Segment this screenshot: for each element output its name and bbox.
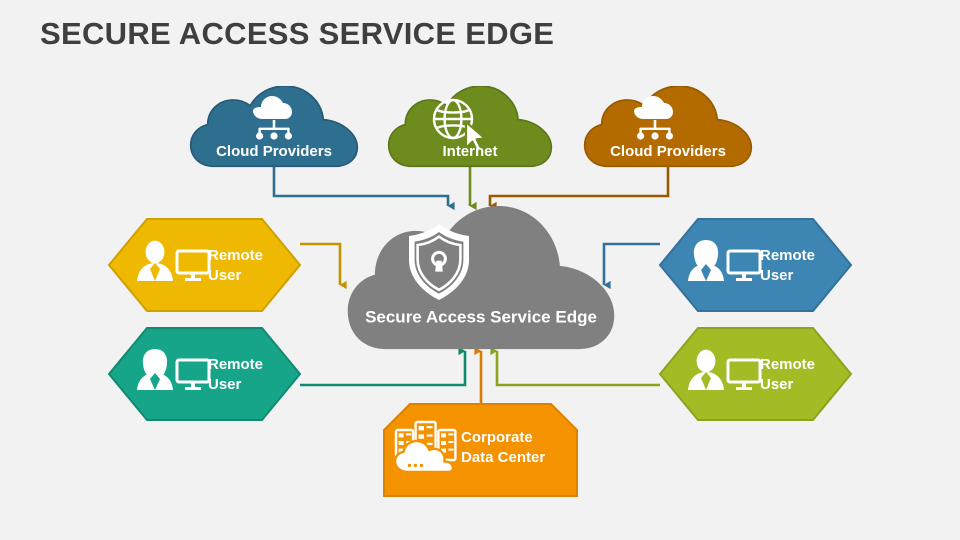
hexagon-shape-bottom-right xyxy=(660,328,851,420)
hexagon-shape-top-right xyxy=(660,219,851,311)
node-label-sase-core: Secure Access Service Edge xyxy=(365,307,597,326)
node-cloud-providers-right[interactable]: Cloud Providers xyxy=(585,86,752,166)
node-label-remote-user-top-left-line1: Remote xyxy=(208,247,263,264)
connector-user-top-right-to-core xyxy=(604,244,660,285)
node-label-remote-user-bottom-left-line2: User xyxy=(208,376,242,393)
node-corporate-data-center[interactable]: Corporate Data Center xyxy=(384,404,577,496)
connector-user-bottom-right-to-core xyxy=(497,351,660,385)
node-label-remote-user-bottom-left-line1: Remote xyxy=(208,356,263,373)
slide-canvas: SECURE ACCESS SERVICE EDGE xyxy=(0,0,960,540)
connector-cloud-left-to-core xyxy=(274,166,448,206)
node-remote-user-bottom-right[interactable]: Remote User xyxy=(660,328,851,420)
node-label-remote-user-bottom-right-line2: User xyxy=(760,376,794,393)
node-label-cloud-providers-right: Cloud Providers xyxy=(610,143,726,160)
cloud-shape-core xyxy=(348,206,615,349)
hexagon-shape-bottom-left xyxy=(109,328,300,420)
node-label-remote-user-bottom-right-line1: Remote xyxy=(760,356,815,373)
sase-diagram: Cloud Providers Internet xyxy=(0,0,960,540)
node-cloud-providers-left[interactable]: Cloud Providers xyxy=(191,86,358,166)
node-remote-user-bottom-left[interactable]: Remote User xyxy=(109,328,300,420)
node-remote-user-top-left[interactable]: Remote User xyxy=(109,219,300,311)
node-internet[interactable]: Internet xyxy=(389,86,552,166)
node-label-remote-user-top-left-line2: User xyxy=(208,267,242,284)
node-label-corporate-data-center-line2: Data Center xyxy=(461,449,545,466)
node-label-internet: Internet xyxy=(442,143,497,160)
node-label-remote-user-top-right-line2: User xyxy=(760,267,794,284)
node-label-corporate-data-center-line1: Corporate xyxy=(461,429,533,446)
hexagon-shape-top-left xyxy=(109,219,300,311)
node-label-remote-user-top-right-line1: Remote xyxy=(760,247,815,264)
node-sase-core[interactable]: Secure Access Service Edge xyxy=(348,206,615,349)
connector-cloud-right-to-core xyxy=(490,166,668,206)
node-remote-user-top-right[interactable]: Remote User xyxy=(660,219,851,311)
node-label-cloud-providers-left: Cloud Providers xyxy=(216,143,332,160)
connector-user-top-left-to-core xyxy=(300,244,340,285)
connector-user-bottom-left-to-core xyxy=(300,351,465,385)
